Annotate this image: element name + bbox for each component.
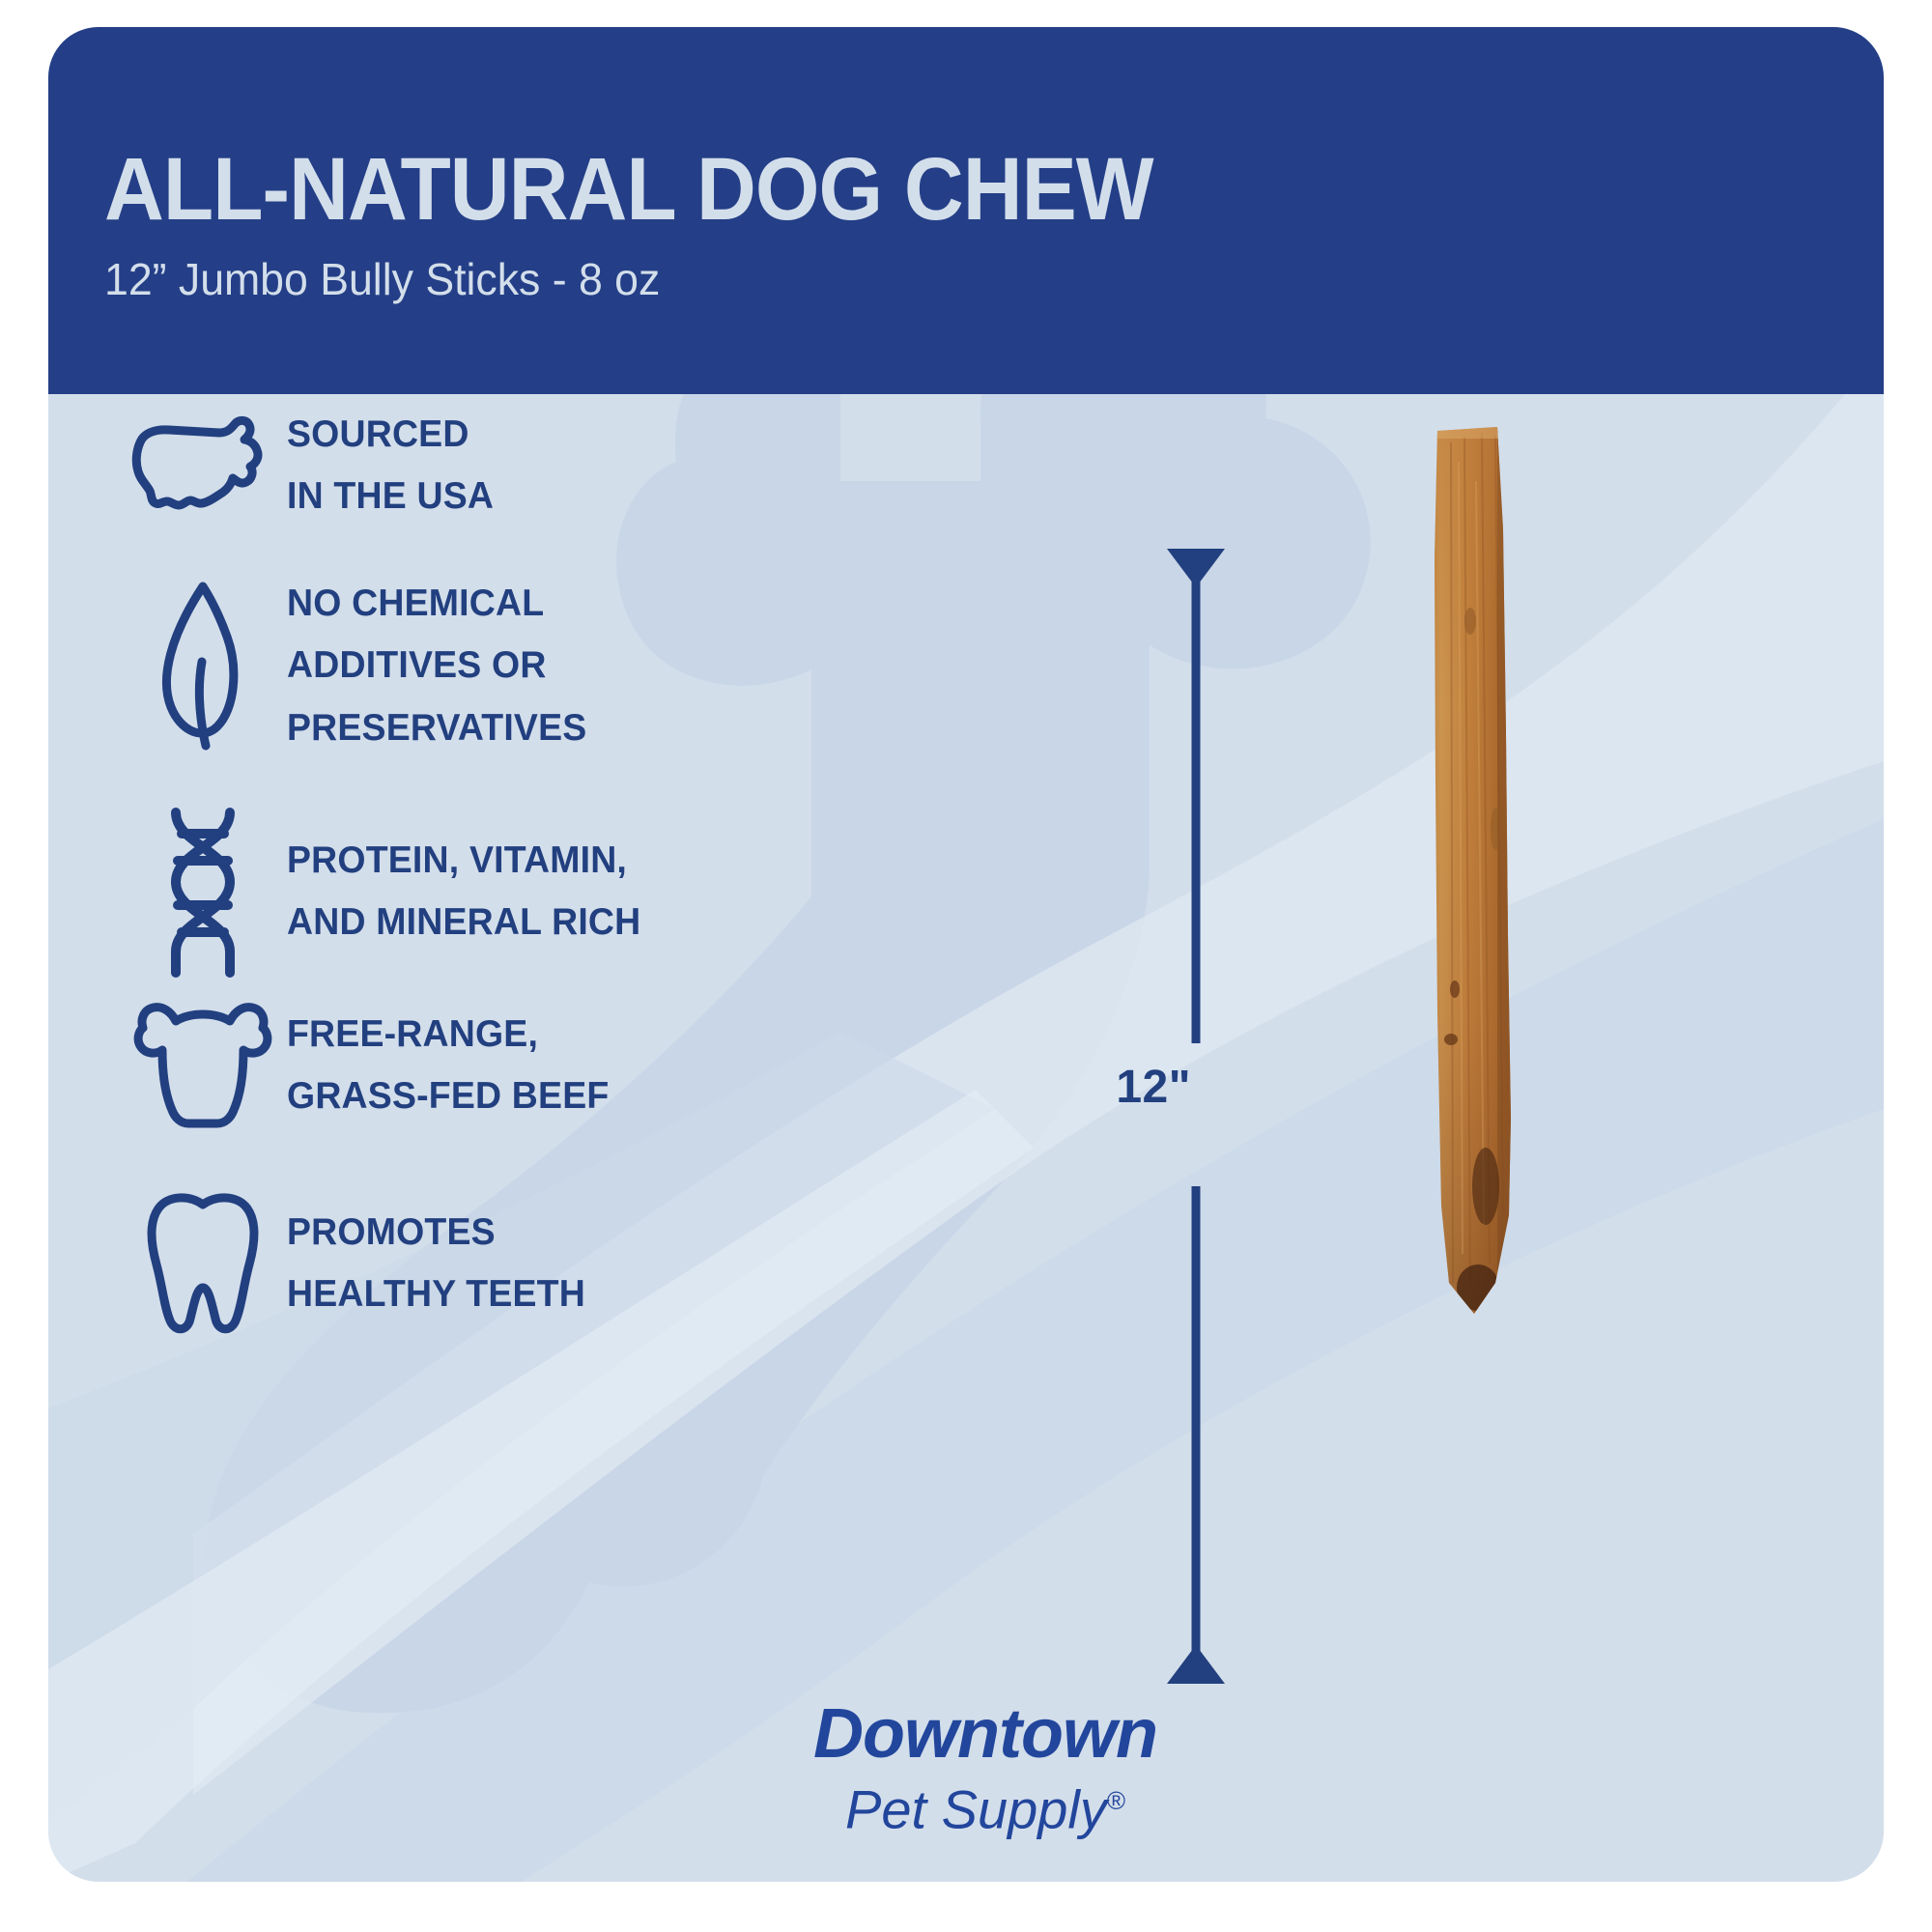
feature-line: AND MINERAL RICH [287,892,640,953]
registered-trademark-icon: ® [1107,1786,1125,1815]
brand-name-primary: Downtown [734,1698,1236,1770]
feature-item-protein-vitamin-mineral-rich: PROTEIN, VITAMIN, AND MINERAL RICH [118,805,656,979]
brand-logo: Downtown Pet Supply® [734,1698,1236,1839]
feature-line: SOURCED [287,404,494,466]
feature-line: IN THE USA [287,466,494,527]
double-headed-arrow-icon [1082,549,1314,1684]
leaf-icon [118,577,287,755]
tooth-icon [118,1191,287,1336]
feature-line: NO CHEMICAL [287,573,586,635]
page-subtitle: 12” Jumbo Bully Sticks - 8 oz [104,257,660,301]
feature-line: PROMOTES [287,1202,585,1264]
dimension-indicator: 12" [1082,549,1314,1684]
feature-line: FREE-RANGE, [287,1004,609,1065]
product-infographic-card: ALL-NATURAL DOG CHEW 12” Jumbo Bully Sti… [48,27,1884,1882]
feature-item-free-range-grass-fed-beef: FREE-RANGE, GRASS-FED BEEF [118,998,622,1133]
feature-item-sourced-in-the-usa: SOURCED IN THE USA [118,404,502,528]
feature-label: PROTEIN, VITAMIN, AND MINERAL RICH [287,830,640,954]
cow-head-icon [118,998,287,1133]
feature-line: HEALTHY TEETH [287,1264,585,1325]
feature-item-promotes-healthy-teeth: PROMOTES HEALTHY TEETH [118,1191,598,1336]
bully-stick-photo [1381,413,1671,1379]
dimension-label: 12" [1077,1061,1191,1114]
header-banner: ALL-NATURAL DOG CHEW 12” Jumbo Bully Sti… [48,27,1884,394]
feature-label: FREE-RANGE, GRASS-FED BEEF [287,1004,609,1128]
brand-name-secondary-text: Pet Supply [845,1779,1107,1840]
feature-line: PROTEIN, VITAMIN, [287,830,640,892]
brand-name-secondary: Pet Supply® [734,1772,1236,1839]
usa-map-icon [118,412,287,520]
page-title: ALL-NATURAL DOG CHEW [104,145,1153,234]
feature-item-no-chemical-additives: NO CHEMICAL ADDITIVES OR PRESERVATIVES [118,573,599,759]
feature-line: ADDITIVES OR [287,635,586,696]
feature-line: GRASS-FED BEEF [287,1065,609,1127]
feature-label: NO CHEMICAL ADDITIVES OR PRESERVATIVES [287,573,586,759]
feature-label: PROMOTES HEALTHY TEETH [287,1202,585,1326]
dna-helix-icon [118,805,287,979]
feature-line: PRESERVATIVES [287,697,586,759]
feature-label: SOURCED IN THE USA [287,404,494,528]
